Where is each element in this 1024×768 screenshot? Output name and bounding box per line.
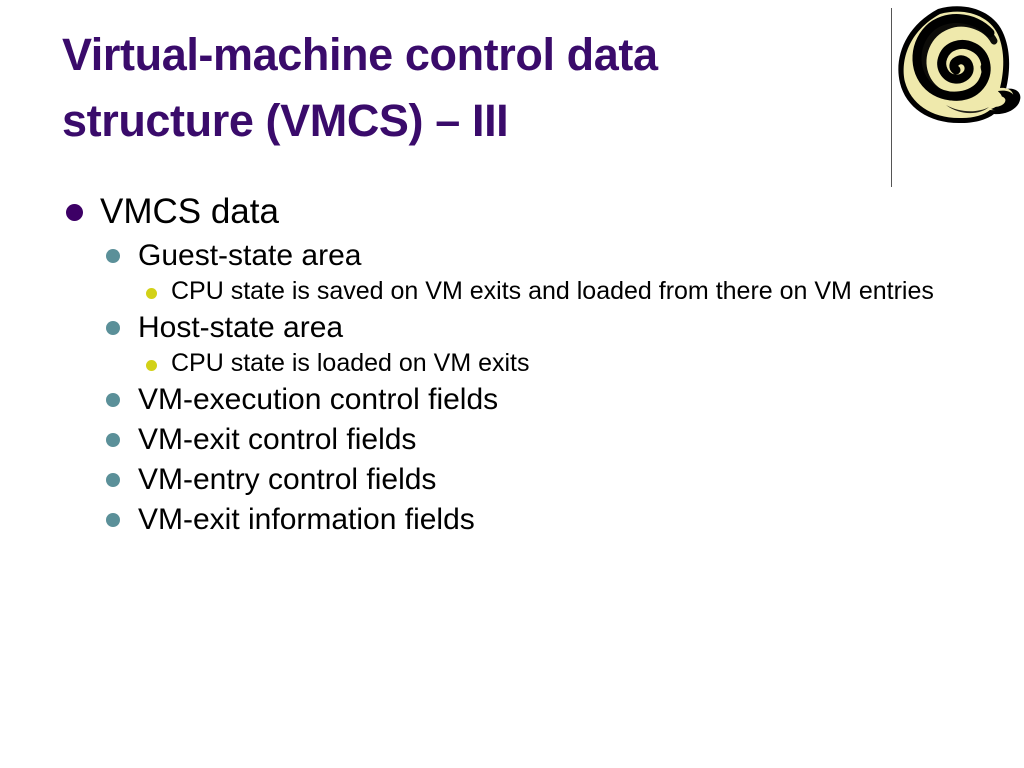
- bullet-list: VMCS data Guest-state area CPU state is …: [0, 190, 1000, 540]
- list-item-label: Guest-state area: [138, 236, 1000, 275]
- list-item-label: VM-entry control fields: [138, 460, 1000, 499]
- bullet-dot-icon: [66, 204, 83, 221]
- list-item: VMCS data: [0, 190, 1000, 234]
- bullet-dot-icon: [146, 288, 157, 299]
- list-item-label: VMCS data: [100, 190, 1000, 234]
- bullet-dot-icon: [106, 513, 120, 527]
- list-item: VM-entry control fields: [0, 460, 1000, 499]
- bullet-dot-icon: [106, 321, 120, 335]
- bullet-dot-icon: [146, 360, 157, 371]
- list-item-label: CPU state is saved on VM exits and loade…: [171, 276, 961, 307]
- list-item: CPU state is loaded on VM exits: [0, 348, 1000, 379]
- presentation-slide: Virtual-machine control data structure (…: [0, 0, 1024, 768]
- list-item: Guest-state area: [0, 236, 1000, 275]
- slide-title-block: Virtual-machine control data structure (…: [62, 22, 862, 154]
- list-item: VM-execution control fields: [0, 380, 1000, 419]
- list-item-label: CPU state is loaded on VM exits: [171, 348, 961, 379]
- rolled-scroll-spiral-icon: [894, 3, 1022, 128]
- bullet-dot-icon: [106, 393, 120, 407]
- list-item-label: Host-state area: [138, 308, 1000, 347]
- list-item-label: VM-exit control fields: [138, 420, 1000, 459]
- vertical-divider-line: [891, 8, 892, 187]
- bullet-dot-icon: [106, 249, 120, 263]
- bullet-dot-icon: [106, 433, 120, 447]
- bullet-dot-icon: [106, 473, 120, 487]
- list-item: VM-exit information fields: [0, 500, 1000, 539]
- list-item: Host-state area: [0, 308, 1000, 347]
- list-item-label: VM-exit information fields: [138, 500, 1000, 539]
- page-title: Virtual-machine control data structure (…: [62, 22, 862, 154]
- list-item: VM-exit control fields: [0, 420, 1000, 459]
- list-item: CPU state is saved on VM exits and loade…: [0, 276, 1000, 307]
- header-decoration: [884, 0, 1024, 195]
- list-item-label: VM-execution control fields: [138, 380, 1000, 419]
